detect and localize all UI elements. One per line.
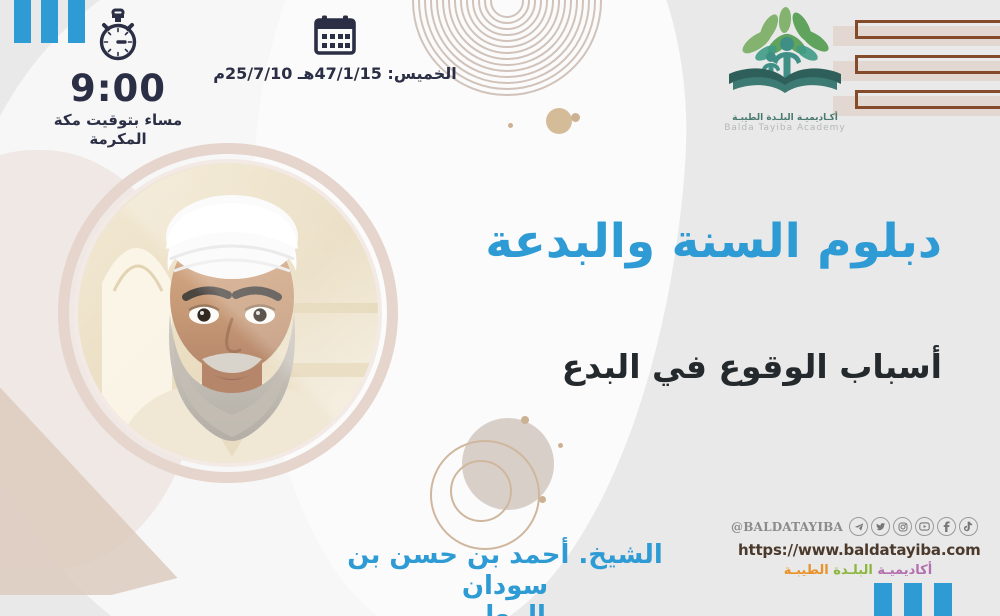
- decor-dot-c: [539, 496, 546, 503]
- decor-rule-outline: [855, 55, 1000, 74]
- social-handle-row: @BALDATAYIBA: [738, 517, 978, 536]
- decor-bar: [934, 583, 952, 616]
- academy-logo-name-en: Balda Tayiba Academy: [706, 123, 864, 133]
- footer-academy-name: أكاديميـة البلـدة الطيبـة: [738, 563, 978, 578]
- decor-bars-bottom-right: [874, 583, 952, 616]
- decor-dot-e: [508, 123, 513, 128]
- decor-filled-circle-small: [546, 108, 572, 134]
- session-date-text: الخميس: 47/1/15هـ 25/7/10م: [190, 64, 480, 83]
- stopwatch-icon: [48, 8, 188, 68]
- decor-rule-outline: [855, 90, 1000, 109]
- footer-contact: @BALDATAYIBA https://www.baldatayiba.com: [738, 517, 978, 578]
- decor-dot-d: [571, 113, 580, 122]
- youtube-icon[interactable]: [915, 517, 934, 536]
- page-title: دبلوم السنة والبدعة: [485, 214, 942, 269]
- website-url[interactable]: https://www.baldatayiba.com: [738, 541, 978, 559]
- telegram-icon[interactable]: [849, 517, 868, 536]
- speaker-credit: الشيخ. أحمد بن حسن بن سودان المعلم: [310, 540, 700, 616]
- portrait-inner-ring: [74, 159, 382, 467]
- instagram-icon[interactable]: [893, 517, 912, 536]
- decor-rule: [855, 90, 1000, 112]
- decor-dot-a: [521, 416, 529, 424]
- portrait-photo: [78, 163, 378, 463]
- speaker-name: الشيخ. أحمد بن حسن بن سودان: [310, 540, 700, 601]
- poster-canvas: 9:00 مساء بتوقيت مكة المكرمة الخميس: 47/…: [0, 0, 1000, 616]
- footer-academy-part2: البلـدة: [833, 563, 873, 578]
- footer-academy-part3: الطيبـة: [784, 563, 829, 578]
- twitter-icon[interactable]: [871, 517, 890, 536]
- social-handle: @BALDATAYIBA: [731, 520, 843, 534]
- calendar-icon: [190, 14, 480, 60]
- decor-rule-outline: [855, 20, 1000, 39]
- decor-bar: [14, 0, 31, 43]
- academy-logo-name-ar: أكـاديميـة البلـدة الطيبـة: [706, 113, 864, 123]
- decor-rule: [855, 55, 1000, 77]
- decor-bar: [874, 583, 892, 616]
- academy-logo: أكـاديميـة البلـدة الطيبـة Balda Tayiba …: [706, 4, 864, 133]
- tiktok-icon[interactable]: [959, 517, 978, 536]
- speaker-portrait: [58, 143, 398, 483]
- facebook-icon[interactable]: [937, 517, 956, 536]
- decor-rule: [855, 20, 1000, 42]
- footer-academy-part1: أكاديميـة: [877, 563, 932, 578]
- decor-dot-b: [558, 443, 563, 448]
- session-date-block: الخميس: 47/1/15هـ 25/7/10م: [190, 14, 480, 83]
- tree-book-logo-icon: [719, 93, 851, 112]
- page-subtitle: أسباب الوقوع في البدع: [562, 347, 942, 386]
- speaker-role: المعلم: [310, 601, 700, 616]
- decor-ring-small: [450, 460, 512, 522]
- decor-bar: [904, 583, 922, 616]
- decor-rules-top-right: [855, 20, 1000, 125]
- session-time-block: 9:00 مساء بتوقيت مكة المكرمة: [48, 8, 188, 149]
- session-time-value: 9:00: [48, 70, 188, 107]
